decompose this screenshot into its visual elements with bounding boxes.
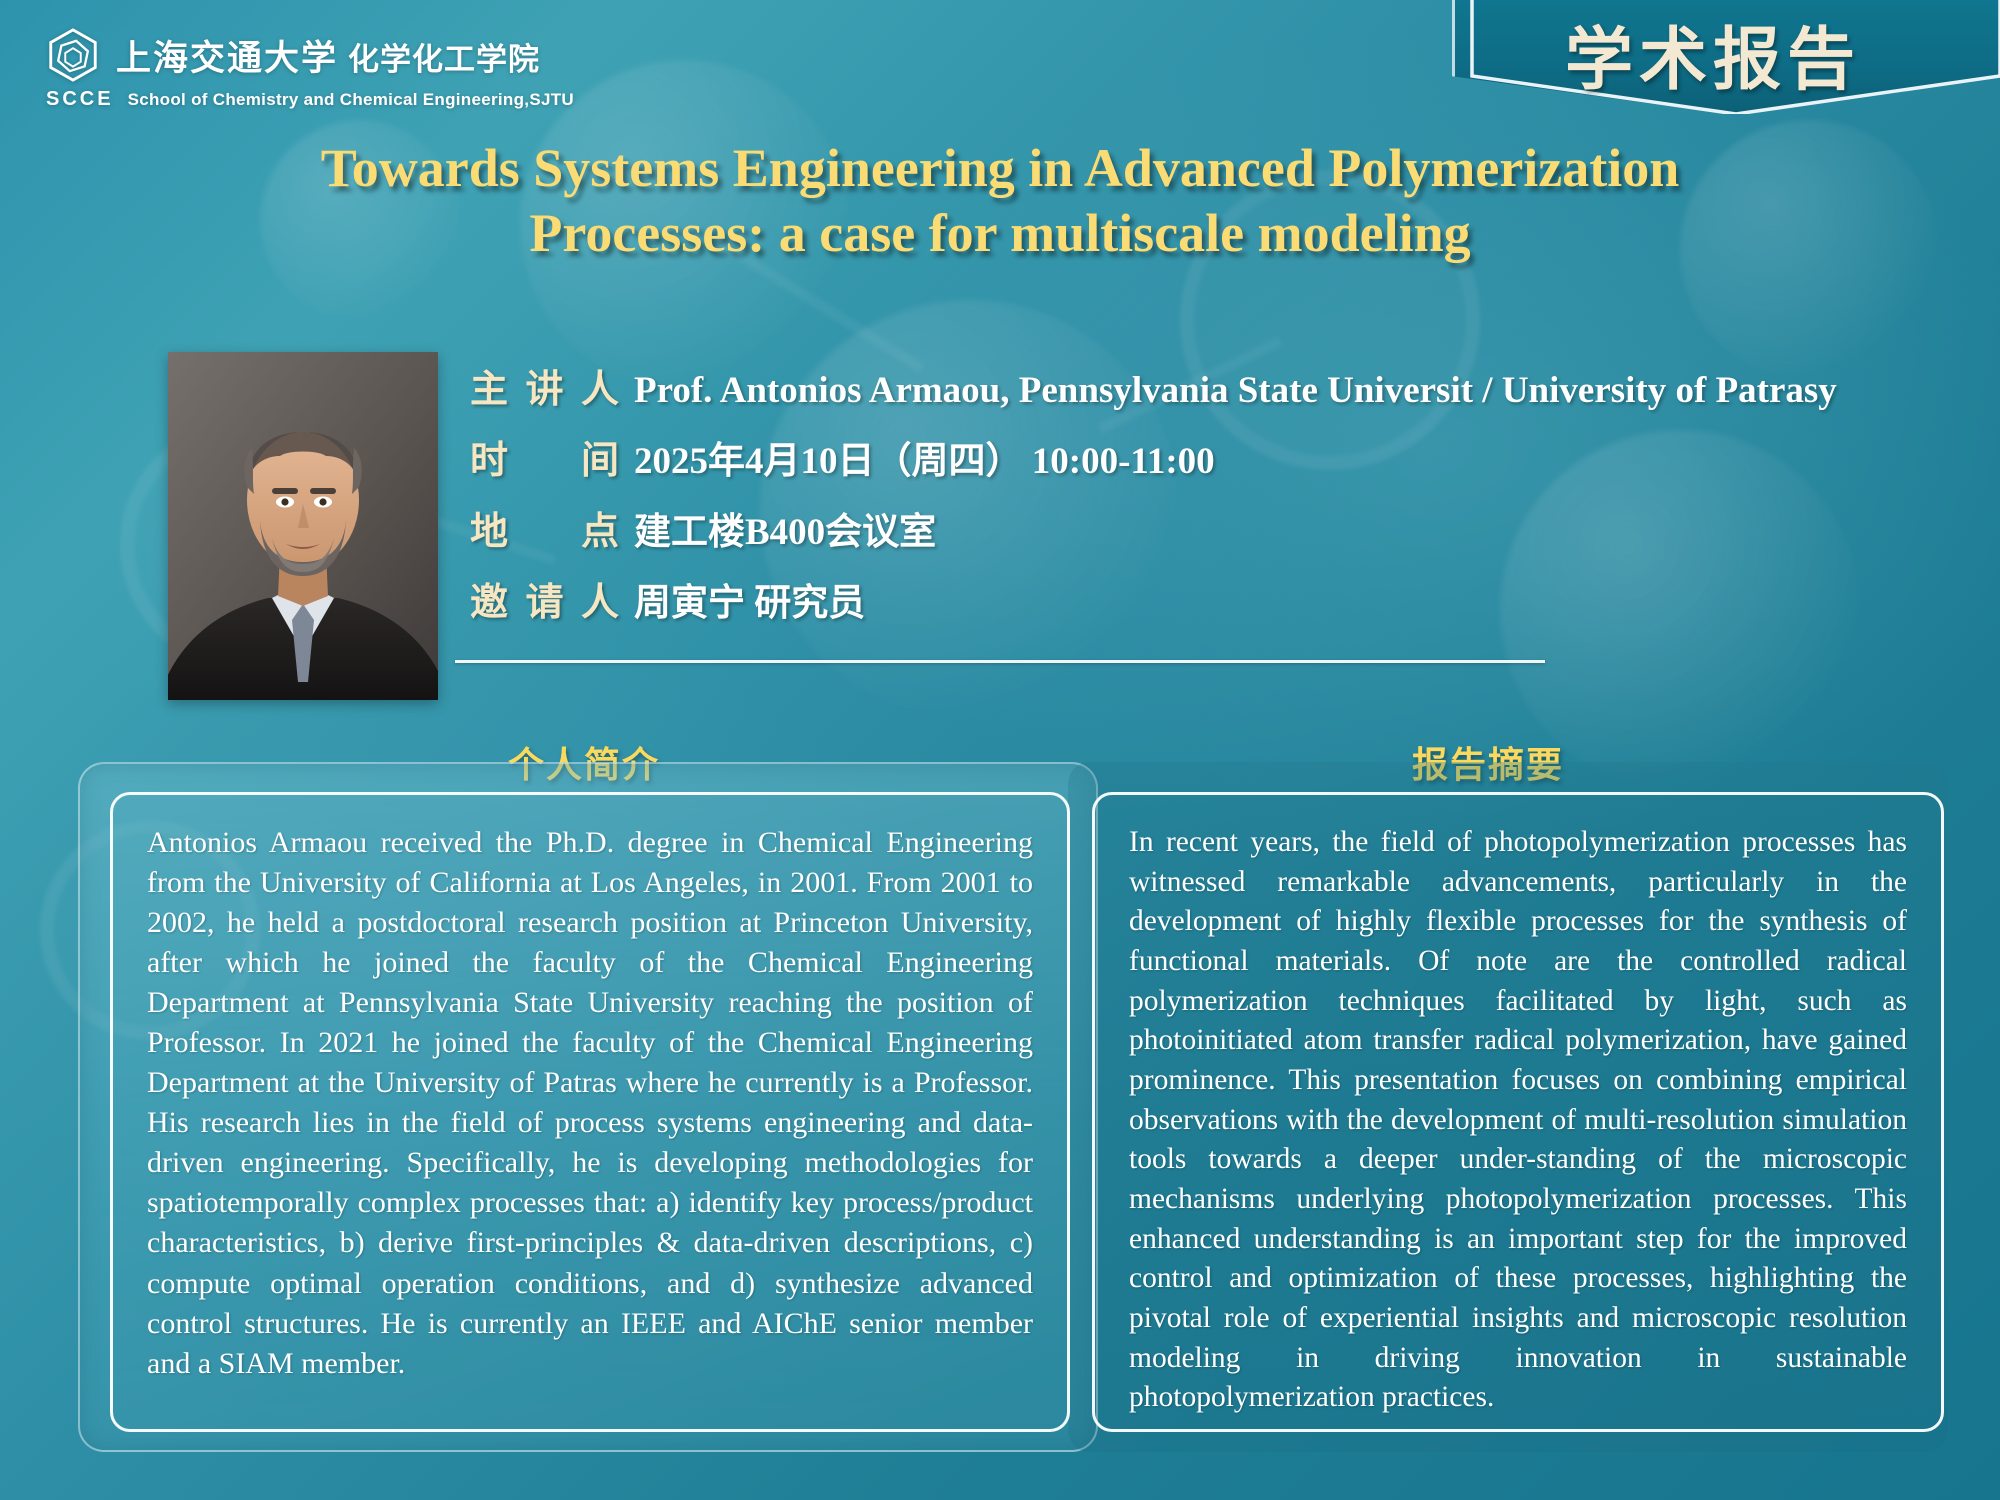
info-label-host: 邀请人 — [470, 571, 620, 626]
event-info-list: 主讲人 Prof. Antonios Armaou, Pennsylvania … — [470, 358, 1900, 642]
page-title: Towards Systems Engineering in Advanced … — [110, 136, 1890, 266]
logo-abbr: SCCE — [46, 88, 114, 111]
academic-report-banner: 学术报告 — [1452, 0, 2000, 114]
label-char: 邀 — [470, 571, 509, 626]
label-char: 请 — [525, 571, 564, 626]
title-line-2: Processes: a case for multiscale modelin… — [110, 201, 1890, 266]
label-char: 间 — [581, 429, 620, 484]
info-label-time: 时间 — [470, 429, 620, 484]
logo-school-en: School of Chemistry and Chemical Enginee… — [128, 90, 574, 110]
info-value-host: 周寅宁 研究员 — [634, 572, 865, 626]
title-line-1: Towards Systems Engineering in Advanced … — [110, 136, 1890, 201]
info-row-speaker: 主讲人 Prof. Antonios Armaou, Pennsylvania … — [470, 358, 1900, 413]
info-label-speaker: 主讲人 — [470, 358, 620, 413]
label-char: 点 — [581, 500, 620, 555]
info-value-speaker: Prof. Antonios Armaou, Pennsylvania Stat… — [634, 369, 1837, 412]
banner-label: 学术报告 — [1452, 4, 1974, 103]
info-row-location: 地点 建工楼B400会议室 — [470, 500, 1900, 555]
label-char: 地 — [470, 500, 509, 555]
speaker-portrait — [168, 352, 438, 700]
logo-university-cn: 上海交通大学 — [116, 39, 338, 78]
bio-panel: Antonios Armaou received the Ph.D. degre… — [110, 792, 1070, 1432]
info-row-time: 时间 2025年4月10日（周四） 10:00-11:00 — [470, 429, 1900, 484]
label-char: 时 — [470, 429, 509, 484]
label-char: 人 — [581, 358, 620, 413]
section-divider — [455, 660, 1545, 663]
info-value-location: 建工楼B400会议室 — [634, 501, 936, 555]
label-char: 讲 — [525, 358, 564, 413]
scce-hexagon-icon — [44, 26, 102, 84]
seminar-poster: 上海交通大学化学化工学院 SCCE School of Chemistry an… — [0, 0, 2000, 1500]
scce-logo: 上海交通大学化学化工学院 SCCE School of Chemistry an… — [44, 26, 574, 111]
info-value-time: 2025年4月10日（周四） 10:00-11:00 — [634, 430, 1215, 484]
label-char: 人 — [581, 571, 620, 626]
abstract-panel: In recent years, the field of photopolym… — [1092, 792, 1944, 1432]
logo-school-cn: 化学化工学院 — [348, 42, 540, 77]
abstract-text: In recent years, the field of photopolym… — [1129, 823, 1907, 1418]
bio-text: Antonios Armaou received the Ph.D. degre… — [147, 823, 1033, 1384]
label-char: 主 — [470, 358, 509, 413]
info-row-host: 邀请人 周寅宁 研究员 — [470, 571, 1900, 626]
info-label-location: 地点 — [470, 500, 620, 555]
logo-chinese-name: 上海交通大学化学化工学院 — [116, 30, 540, 81]
